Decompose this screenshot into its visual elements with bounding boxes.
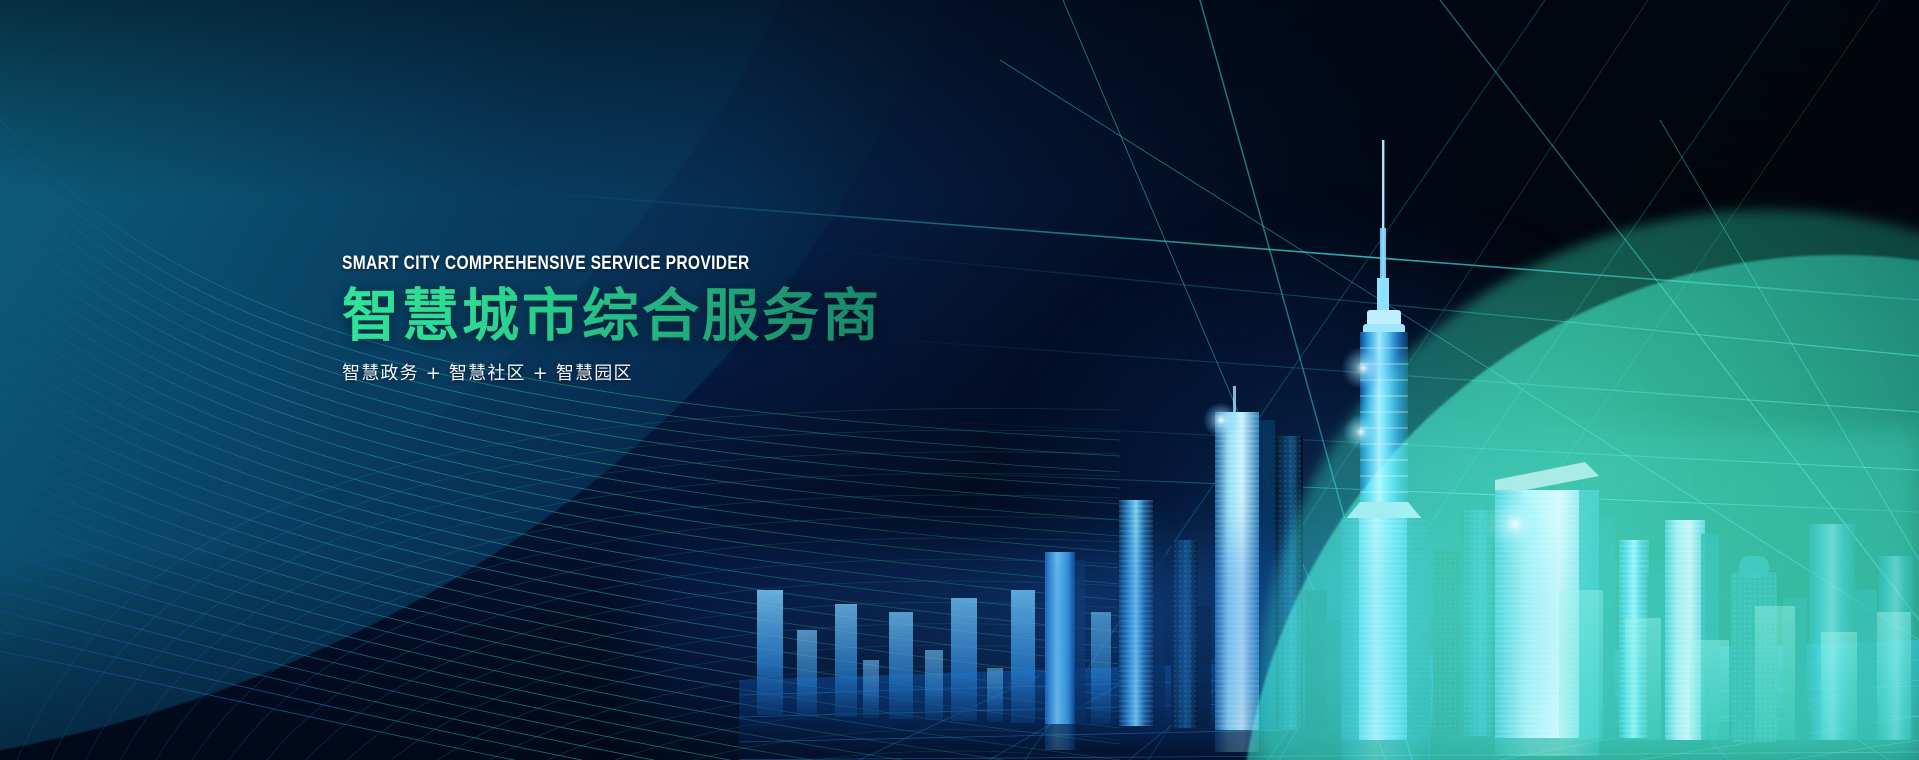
hero-subline-chinese: 智慧政务 + 智慧社区 + 智慧园区 (342, 365, 882, 383)
hero-eyebrow-english: SMART CITY COMPREHENSIVE SERVICE PROVIDE… (342, 254, 785, 273)
hero-headline-chinese: 智慧城市综合服务商 (342, 286, 882, 348)
hero-text-block: SMART CITY COMPREHENSIVE SERVICE PROVIDE… (342, 254, 882, 383)
smart-city-hero-banner: SMART CITY COMPREHENSIVE SERVICE PROVIDE… (0, 0, 1919, 760)
